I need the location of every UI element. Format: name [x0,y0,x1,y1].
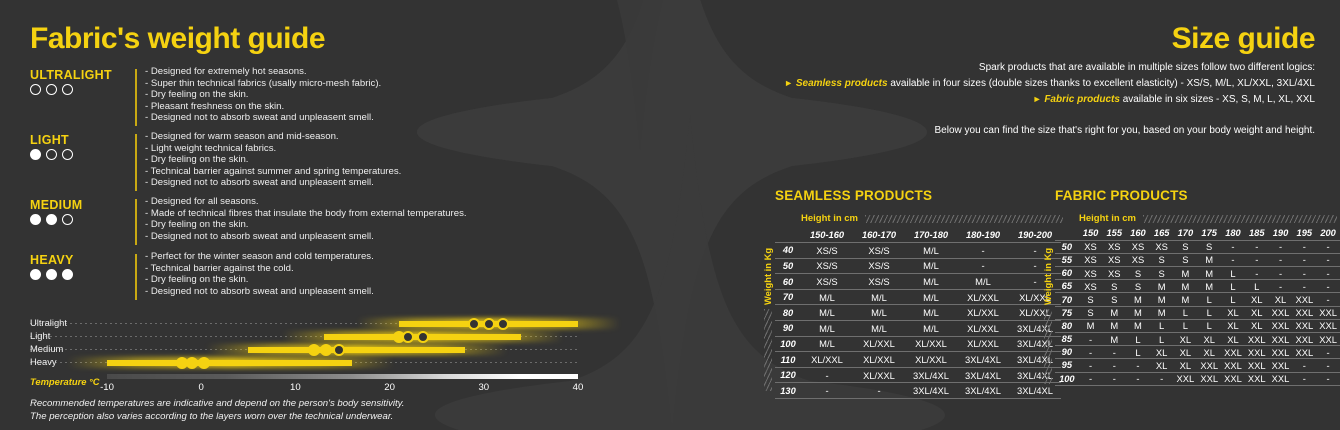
table-cell-size: XL/XXL [905,352,957,368]
column-header: 180-190 [957,227,1009,243]
column-header: 180 [1221,227,1245,240]
table-cell-size: - [1316,372,1340,385]
table-cell-size: XL [1221,333,1245,346]
table-cell-size: XS/S [801,274,853,290]
table-row: 80M/LM/LM/LXL/XXLXL/XXL [775,305,1061,321]
bullet: - Designed not to absorb sweat and unple… [145,286,374,298]
table-cell-size: 3XL/4XL [1009,383,1061,399]
weight-dots-ultralight [30,84,73,95]
table-cell-size: XL/XXL [853,367,905,383]
table-cell-size: 3XL/4XL [1009,336,1061,352]
table-cell-size: M/L [905,274,957,290]
table-cell-size: M/L [905,305,957,321]
intro-text: available in six sizes - XS, S, M, L, XL… [1123,94,1315,105]
table-row: 130--3XL/4XL3XL/4XL3XL/4XL [775,383,1061,399]
column-header: 175 [1197,227,1221,240]
table-cell-size: XXL [1197,372,1221,385]
bullet: - Dry feeling on the skin. [145,274,374,286]
table-cell-size: - [1316,253,1340,266]
table-cell-size: XS [1126,240,1150,253]
table-cell-size: XL [1174,333,1198,346]
intro-text: available in four sizes (double sizes th… [890,78,1315,89]
chart-marker-dot [186,357,198,369]
table-row: 90--LXLXLXLXXLXXLXXLXXL- [1055,346,1340,359]
table-cell-size: S [1126,280,1150,293]
table-row: 50XSXSXSXSSS----- [1055,240,1340,253]
table-cell-size: M [1102,306,1126,319]
table-cell-size: XS [1102,253,1126,266]
dot-icon [46,269,57,280]
table-row: 100----XXLXXLXXLXXLXXL-- [1055,372,1340,385]
chart-row-label: Medium [30,343,63,354]
table-cell-size: - [1316,293,1340,306]
dot-icon [62,269,73,280]
table-cell-size: M/L [801,289,853,305]
table-cell-size: - [1245,240,1269,253]
column-header: 160-170 [853,227,905,243]
table-row: 110XL/XXLXL/XXLXL/XXL3XL/4XL3XL/4XL [775,352,1061,368]
row-header-weight: 50 [1055,240,1079,253]
table-cell-size: - [1269,280,1293,293]
column-header: 170 [1174,227,1198,240]
page-title-size: Size guide [1172,22,1315,56]
table-row: 75SMMMLLXLXLXXLXXLXXL [1055,306,1340,319]
weight-dots-light [30,149,73,160]
table-cell-size: M [1174,293,1198,306]
table-cell-size: XXL [1221,346,1245,359]
axis-tick-label: 0 [199,382,204,393]
row-header-weight: 90 [775,321,801,337]
divider [135,254,137,300]
table-cell-size: - [1292,240,1316,253]
intro-line-3: ► Fabric products available in six sizes… [1033,94,1315,105]
dot-icon [46,214,57,225]
hatch-decoration-vertical [1044,309,1052,384]
bullet: - Designed not to absorb sweat and unple… [145,231,467,243]
weight-label-light: LIGHT [30,133,69,147]
column-header: 160 [1126,227,1150,240]
table-cell-size: S [1126,267,1150,280]
intro-text: Spark products that are available in mul… [979,62,1315,73]
table-row: 55XSXSXSSSM----- [1055,253,1340,266]
chart-marker-dot [308,344,320,356]
table-cell-size: XS [1150,240,1174,253]
intro-line-1: Spark products that are available in mul… [979,62,1315,73]
table-cell-size: M/L [801,305,853,321]
table-cell-size: S [1150,267,1174,280]
table-cell-size: XXL [1316,306,1340,319]
column-header: 200 [1316,227,1340,240]
table-cell-size: M [1079,319,1103,332]
weight-label-heavy: HEAVY [30,253,74,267]
intro-line-2: ► Seamless products available in four si… [784,78,1315,89]
table-cell-size: - [1292,253,1316,266]
column-header: 190 [1269,227,1293,240]
table-cell-size: XXL [1292,346,1316,359]
column-header: 165 [1150,227,1174,240]
table-cell-size: L [1126,346,1150,359]
size-guide-panel: Size guide Spark products that are avail… [640,0,1340,430]
table-row: 50XS/SXS/SM/L-- [775,258,1061,274]
bullet: - Perfect for the winter season and cold… [145,251,374,263]
chart-marker-dot [333,344,345,356]
height-in-cm-label: Height in cm [1079,213,1136,224]
weight-block-light: LIGHT - Designed for warm season and mid… [30,133,600,191]
table-cell-size: XXL [1245,346,1269,359]
table-cell-size: M [1102,333,1126,346]
fabric-height-header: Height in cm [1079,213,1337,224]
table-cell-size: XL [1150,359,1174,372]
table-header-row: 150-160160-170170-180180-190190-200 [775,227,1061,243]
row-header-weight: 130 [775,383,801,399]
dot-icon [30,84,41,95]
table-cell-size: - [1292,280,1316,293]
bullet: - Dry feeling on the skin. [145,219,467,231]
table-cell-size: 3XL/4XL [905,367,957,383]
weight-block-ultralight: ULTRALIGHT - Designed for extremely hot … [30,68,600,126]
column-header: 170-180 [905,227,957,243]
dot-icon [62,84,73,95]
table-cell-size: L [1221,280,1245,293]
table-cell-size: XL [1150,346,1174,359]
axis-tick-label: 10 [290,382,301,393]
table-cell-size: - [1009,243,1061,259]
table-cell-size: XS/S [853,274,905,290]
table-cell-size: - [1292,372,1316,385]
table-cell-size: - [1150,372,1174,385]
chart-bar [107,357,352,368]
table-cell-size: XXL [1269,333,1293,346]
chart-marker-dot [468,318,480,330]
table-cell-size: S [1102,293,1126,306]
axis-tick-label: -10 [100,382,114,393]
seamless-products-table: 150-160160-170170-180180-190190-200 40XS… [775,227,1061,399]
column-header: 155 [1102,227,1126,240]
table-corner-cell [1055,227,1079,240]
axis-tick-label: 40 [573,382,584,393]
hatch-decoration [865,215,1063,223]
table-cell-size: L [1221,293,1245,306]
bullet: - Designed for extremely hot seasons. [145,66,381,78]
table-cell-size: L [1197,319,1221,332]
fabric-table-title: FABRIC PRODUCTS [1055,188,1340,203]
table-row: 80MMMLLLXLXLXXLXXLXXL [1055,319,1340,332]
arrow-icon: ► [784,78,793,88]
chart-bar-core [107,360,352,366]
table-cell-size: XXL [1245,359,1269,372]
table-cell-size: XL/XXL [957,336,1009,352]
table-cell-size: XL/XXL [801,352,853,368]
row-header-weight: 60 [775,274,801,290]
table-cell-size: XL [1245,293,1269,306]
table-cell-size: XXL [1245,372,1269,385]
table-cell-size: XS/S [853,258,905,274]
table-cell-size: XXL [1197,359,1221,372]
dot-icon [62,214,73,225]
table-cell-size: 3XL/4XL [1009,352,1061,368]
table-row: 90M/LM/LM/LXL/XXL3XL/4XL [775,321,1061,337]
table-cell-size: XL/XXL [957,321,1009,337]
table-cell-size: XL [1174,359,1198,372]
table-cell-size: XL/XXL [1009,289,1061,305]
table-cell-size: - [1126,359,1150,372]
column-header: 190-200 [1009,227,1061,243]
table-cell-size: XS/S [801,243,853,259]
table-cell-size: XXL [1292,306,1316,319]
table-cell-size: S [1079,306,1103,319]
bullet: - Technical barrier against summer and s… [145,166,401,178]
bullet: - Designed for warm season and mid-seaso… [145,131,401,143]
table-cell-size: L [1197,306,1221,319]
table-cell-size: - [1102,359,1126,372]
chart-bar-core [248,347,465,353]
intro-highlight: Fabric products [1044,94,1120,105]
table-cell-size: XXL [1316,333,1340,346]
dot-icon [46,149,57,160]
divider [135,199,137,245]
divider [135,69,137,126]
table-cell-size: - [1079,346,1103,359]
table-cell-size: S [1197,240,1221,253]
table-cell-size: - [1316,267,1340,280]
table-cell-size: M [1126,293,1150,306]
table-cell-size: - [1009,258,1061,274]
table-cell-size: XL/XXL [1009,305,1061,321]
table-cell-size: XL/XXL [957,305,1009,321]
column-header: 195 [1292,227,1316,240]
temperature-chart: UltralightLightMediumHeavy Temperature °… [0,312,600,430]
table-cell-size: L [1221,267,1245,280]
table-cell-size: M [1150,280,1174,293]
table-cell-size: - [1102,372,1126,385]
dot-icon [62,149,73,160]
table-cell-size: XL/XXL [957,289,1009,305]
table-cell-size: S [1150,253,1174,266]
chart-row-label: Heavy [30,356,57,367]
chart-note-1: Recommended temperatures are indicative … [30,398,404,409]
table-cell-size: XS [1102,267,1126,280]
row-header-weight: 100 [775,336,801,352]
row-header-weight: 65 [1055,280,1079,293]
table-cell-size: XXL [1221,359,1245,372]
infographic-root: Fabric's weight guide ULTRALIGHT - Desig… [0,0,1340,430]
table-row: 120-XL/XXL3XL/4XL3XL/4XL3XL/4XL [775,367,1061,383]
table-cell-size: XXL [1269,346,1293,359]
seamless-table-title: SEAMLESS PRODUCTS [775,188,1070,203]
table-cell-size: L [1150,333,1174,346]
table-row: 70M/LM/LM/LXL/XXLXL/XXL [775,289,1061,305]
table-cell-size: M [1174,267,1198,280]
table-cell-size: - [1269,253,1293,266]
table-cell-size: XL [1245,306,1269,319]
table-cell-size: - [801,383,853,399]
weight-block-heavy: HEAVY - Perfect for the winter season an… [30,253,600,301]
table-cell-size: - [801,367,853,383]
row-header-weight: 85 [1055,333,1079,346]
table-cell-size: L [1245,280,1269,293]
below-note: Below you can find the size that's right… [935,125,1315,136]
hatch-decoration-vertical [764,309,772,391]
table-cell-size: XXL [1269,306,1293,319]
dot-icon [30,149,41,160]
table-cell-size: XS [1079,267,1103,280]
table-cell-size: 3XL/4XL [957,367,1009,383]
table-cell-size: L [1126,333,1150,346]
seamless-products-table-wrap: SEAMLESS PRODUCTS Height in cm Weight in… [775,188,1070,399]
seamless-height-header: Height in cm [801,213,1063,224]
table-cell-size: XL [1197,333,1221,346]
row-header-weight: 40 [775,243,801,259]
bullet: - Pleasant freshness on the skin. [145,101,381,113]
table-cell-size: - [1269,240,1293,253]
table-row: 95---XLXLXXLXXLXXLXXL-- [1055,359,1340,372]
table-cell-size: 3XL/4XL [1009,321,1061,337]
bullet: - Designed not to absorb sweat and unple… [145,177,401,189]
chart-marker-dot [497,318,509,330]
table-cell-size: XS [1102,240,1126,253]
table-cell-size: XL/XXL [905,336,957,352]
row-header-weight: 80 [775,305,801,321]
table-cell-size: L [1150,319,1174,332]
table-cell-size: S [1174,253,1198,266]
table-cell-size: - [957,243,1009,259]
table-cell-size: M/L [853,321,905,337]
table-cell-size: M/L [905,321,957,337]
table-row: 40XS/SXS/SM/L-- [775,243,1061,259]
table-cell-size: XL/XXL [853,336,905,352]
table-cell-size: - [1079,359,1103,372]
table-cell-size: XL [1269,293,1293,306]
table-cell-size: - [1292,359,1316,372]
table-cell-size: - [957,258,1009,274]
weight-bullets-medium: - Designed for all seasons. - Made of te… [145,196,467,242]
axis-tick-label: 30 [478,382,489,393]
table-cell-size: XXL [1221,372,1245,385]
weight-in-kg-label: Weight in Kg [1042,237,1053,305]
table-cell-size: 3XL/4XL [957,383,1009,399]
arrow-icon: ► [1033,94,1042,104]
bullet: - Made of technical fibres that insulate… [145,208,467,220]
weight-bullets-heavy: - Perfect for the winter season and cold… [145,251,374,297]
table-cell-size: XS/S [801,258,853,274]
table-cell-size: XXL [1316,319,1340,332]
table-cell-size: - [1079,333,1103,346]
chart-row-label: Light [30,330,50,341]
table-row: 85-MLLXLXLXLXXLXXLXXLXXL [1055,333,1340,346]
bullet: - Super thin technical fabrics (usally m… [145,78,381,90]
bullet: - Dry feeling on the skin. [145,89,381,101]
column-header: 150 [1079,227,1103,240]
chart-marker-dot [483,318,495,330]
row-header-weight: 60 [1055,267,1079,280]
table-row: 70SSMMMLLXLXLXXL- [1055,293,1340,306]
table-cell-size: - [1079,372,1103,385]
weight-bullets-light: - Designed for warm season and mid-seaso… [145,131,401,189]
table-cell-size: XS [1126,253,1150,266]
table-row: 100M/LXL/XXLXL/XXLXL/XXL3XL/4XL [775,336,1061,352]
chart-marker-dot [198,357,210,369]
table-cell-size: XXL [1245,333,1269,346]
table-body: 40XS/SXS/SM/L--50XS/SXS/SM/L--60XS/SXS/S… [775,243,1061,399]
weight-dots-heavy [30,269,73,280]
row-header-weight: 75 [1055,306,1079,319]
table-cell-size: XXL [1292,293,1316,306]
table-cell-size: XL [1245,319,1269,332]
row-header-weight: 70 [1055,293,1079,306]
table-corner-cell [775,227,801,243]
table-cell-size: XXL [1269,372,1293,385]
table-cell-size: XXL [1292,319,1316,332]
table-cell-size: - [1009,274,1061,290]
table-cell-size: 3XL/4XL [1009,367,1061,383]
row-header-weight: 110 [775,352,801,368]
height-in-cm-label: Height in cm [801,213,858,224]
table-cell-size: XXL [1269,359,1293,372]
chart-marker-dot [417,331,429,343]
row-header-weight: 120 [775,367,801,383]
table-cell-size: M [1197,267,1221,280]
hatch-decoration [1143,215,1337,223]
table-cell-size: - [1245,267,1269,280]
table-cell-size: S [1102,280,1126,293]
table-cell-size: - [1316,359,1340,372]
row-header-weight: 70 [775,289,801,305]
table-cell-size: XS [1079,240,1103,253]
table-cell-size: - [1102,346,1126,359]
table-cell-size: M [1126,319,1150,332]
row-header-weight: 90 [1055,346,1079,359]
table-cell-size: M [1126,306,1150,319]
table-cell-size: XXL [1174,372,1198,385]
table-cell-size: XL [1197,346,1221,359]
table-cell-size: - [1245,253,1269,266]
table-cell-size: - [1316,240,1340,253]
table-cell-size: XL [1221,306,1245,319]
chart-row-label: Ultralight [30,317,67,328]
dot-icon [30,269,41,280]
table-cell-size: - [1316,280,1340,293]
table-cell-size: L [1174,319,1198,332]
table-cell-size: M/L [853,305,905,321]
table-row: 60XS/SXS/SM/LM/L- [775,274,1061,290]
table-cell-size: - [1126,372,1150,385]
row-header-weight: 55 [1055,253,1079,266]
table-cell-size: M [1150,306,1174,319]
table-body: 50XSXSXSXSSS-----55XSXSXSSSM-----60XSXSS… [1055,240,1340,385]
axis-gradient-bar [107,374,578,379]
table-cell-size: XXL [1269,319,1293,332]
bullet: - Designed not to absorb sweat and unple… [145,112,381,124]
table-cell-size: M [1102,319,1126,332]
bullet: - Light weight technical fabrics. [145,143,401,155]
page-title-fabric: Fabric's weight guide [30,22,325,56]
table-cell-size: M [1197,253,1221,266]
row-header-weight: 50 [775,258,801,274]
table-cell-size: - [1292,267,1316,280]
table-cell-size: XL/XXL [853,352,905,368]
axis-tick-label: 20 [384,382,395,393]
table-cell-size: 3XL/4XL [905,383,957,399]
table-cell-size: M/L [801,321,853,337]
divider [135,134,137,191]
table-cell-size: M/L [905,243,957,259]
table-cell-size: XXL [1292,333,1316,346]
weight-in-kg-label: Weight in Kg [762,237,773,305]
table-cell-size: S [1079,293,1103,306]
table-cell-size: M/L [853,289,905,305]
bullet: - Technical barrier against the cold. [145,263,374,275]
table-cell-size: - [1316,346,1340,359]
